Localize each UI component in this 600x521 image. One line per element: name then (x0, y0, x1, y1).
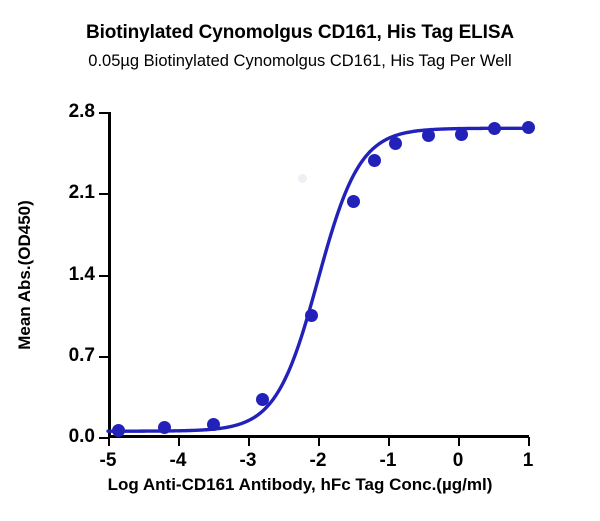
plot-area: 0.00.71.42.12.8 -5-4-3-2-101 (108, 112, 528, 437)
data-point (305, 309, 318, 322)
elisa-chart: Biotinylated Cynomolgus CD161, His Tag E… (0, 0, 600, 521)
y-tick-label: 2.1 (69, 182, 95, 204)
x-tick-label: 0 (453, 450, 464, 472)
x-tick-label: -5 (100, 450, 117, 472)
data-point (522, 121, 535, 134)
data-point (422, 129, 435, 142)
x-tick-label: -2 (310, 450, 327, 472)
data-point (158, 421, 171, 434)
x-tick (388, 437, 390, 446)
data-point (347, 195, 360, 208)
y-tick (99, 437, 108, 439)
chart-title: Biotinylated Cynomolgus CD161, His Tag E… (0, 22, 600, 44)
x-tick (458, 437, 460, 446)
y-axis-title-label: Mean Abs.(OD450) (15, 200, 35, 350)
y-tick (99, 112, 108, 114)
x-tick (108, 437, 110, 446)
y-tick-label: 0.0 (69, 426, 95, 448)
x-tick (318, 437, 320, 446)
data-point (368, 154, 381, 167)
x-tick-label: -1 (380, 450, 397, 472)
y-tick (99, 193, 108, 195)
data-point (389, 137, 402, 150)
y-tick-label: 2.8 (69, 101, 95, 123)
chart-subtitle: 0.05µg Biotinylated Cynomolgus CD161, Hi… (0, 52, 600, 71)
y-tick (99, 275, 108, 277)
data-point (488, 122, 501, 135)
data-point (455, 128, 468, 141)
data-point (112, 424, 125, 437)
x-tick (248, 437, 250, 446)
x-tick-label: -3 (240, 450, 257, 472)
data-point (256, 393, 269, 406)
x-tick (178, 437, 180, 446)
y-tick-label: 1.4 (69, 264, 95, 286)
x-axis-title: Log Anti-CD161 Antibody, hFc Tag Conc.(µ… (0, 475, 600, 495)
data-point (207, 418, 220, 431)
y-tick (99, 356, 108, 358)
y-axis-title: Mean Abs.(OD450) (12, 112, 38, 437)
y-tick-label: 0.7 (69, 345, 95, 367)
x-tick (528, 437, 530, 446)
x-tick-label: 1 (523, 450, 534, 472)
x-tick-label: -4 (170, 450, 187, 472)
fit-curve (108, 112, 528, 437)
